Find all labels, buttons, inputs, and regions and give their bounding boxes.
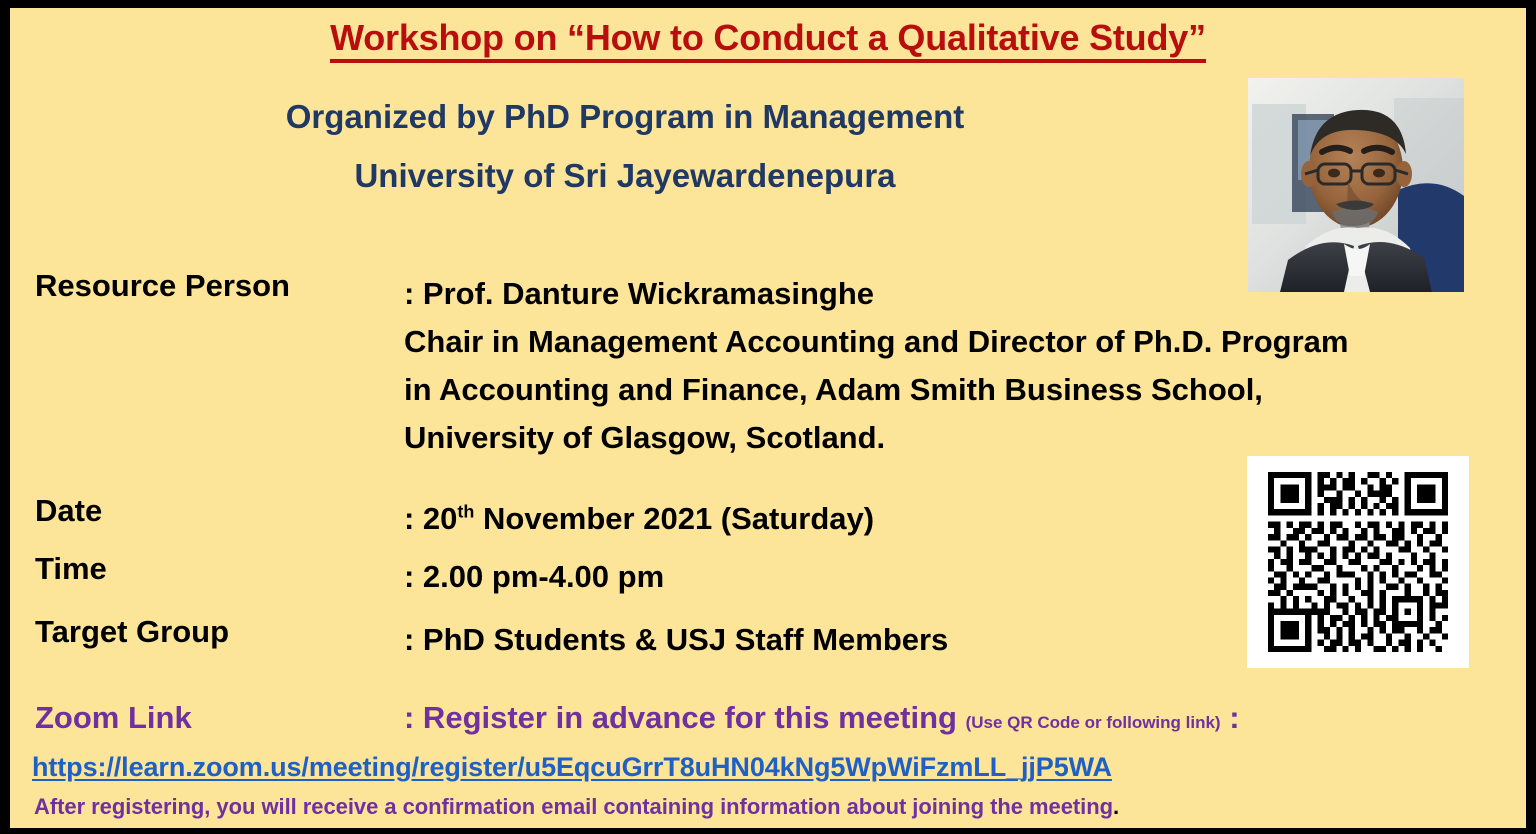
detail-row-time: Time : 2.00 pm-4.00 pm	[35, 553, 664, 601]
poster-card: Workshop on “How to Conduct a Qualitativ…	[10, 8, 1526, 828]
date-ordinal-suffix: th	[457, 502, 474, 522]
detail-row-date: Date : 20th November 2021 (Saturday)	[35, 495, 874, 543]
zoom-footnote-period: .	[1113, 794, 1119, 819]
detail-row-resource-person: Resource Person : Prof. Danture Wickrama…	[35, 270, 1348, 462]
value-date: : 20th November 2021 (Saturday)	[404, 495, 874, 543]
resource-person-affiliation-line-3: University of Glasgow, Scotland.	[404, 414, 1348, 462]
value-target-group: : PhD Students & USJ Staff Members	[404, 616, 948, 664]
detail-row-zoom-link: Zoom Link : Register in advance for this…	[35, 702, 1240, 733]
date-rest: November 2021 (Saturday)	[474, 501, 874, 536]
poster-root: Workshop on “How to Conduct a Qualitativ…	[0, 0, 1536, 834]
label-target-group: Target Group	[35, 616, 404, 647]
zoom-footnote: After registering, you will receive a co…	[34, 794, 1119, 820]
organizer-line-2: University of Sri Jayewardenepura	[10, 159, 1240, 192]
organizer-block: Organized by PhD Program in Management U…	[10, 100, 1240, 192]
resource-person-name: : Prof. Danture Wickramasinghe	[404, 270, 1348, 318]
value-resource-person: : Prof. Danture Wickramasinghe Chair in …	[404, 270, 1348, 462]
speaker-photo	[1248, 78, 1464, 292]
label-resource-person: Resource Person	[35, 270, 404, 301]
zoom-note-colon: :	[1229, 700, 1239, 735]
zoom-footnote-text: After registering, you will receive a co…	[34, 794, 1113, 819]
poster-title-row: Workshop on “How to Conduct a Qualitativ…	[10, 18, 1526, 63]
poster-title: Workshop on “How to Conduct a Qualitativ…	[330, 18, 1206, 63]
label-time: Time	[35, 553, 404, 584]
label-date: Date	[35, 495, 404, 526]
value-time: : 2.00 pm-4.00 pm	[404, 553, 664, 601]
resource-person-affiliation-line-1: Chair in Management Accounting and Direc…	[404, 318, 1348, 366]
qr-code[interactable]	[1247, 456, 1469, 668]
resource-person-affiliation-line-2: in Accounting and Finance, Adam Smith Bu…	[404, 366, 1348, 414]
label-zoom-link: Zoom Link	[35, 702, 404, 733]
zoom-qr-note: (Use QR Code or following link)	[966, 713, 1221, 732]
value-zoom-link: : Register in advance for this meeting (…	[404, 702, 1240, 733]
detail-row-target-group: Target Group : PhD Students & USJ Staff …	[35, 616, 948, 664]
organizer-line-1: Organized by PhD Program in Management	[10, 100, 1240, 133]
zoom-register-text: : Register in advance for this meeting	[404, 700, 957, 735]
zoom-registration-link[interactable]: https://learn.zoom.us/meeting/register/u…	[32, 752, 1112, 783]
date-prefix: : 20	[404, 501, 457, 536]
